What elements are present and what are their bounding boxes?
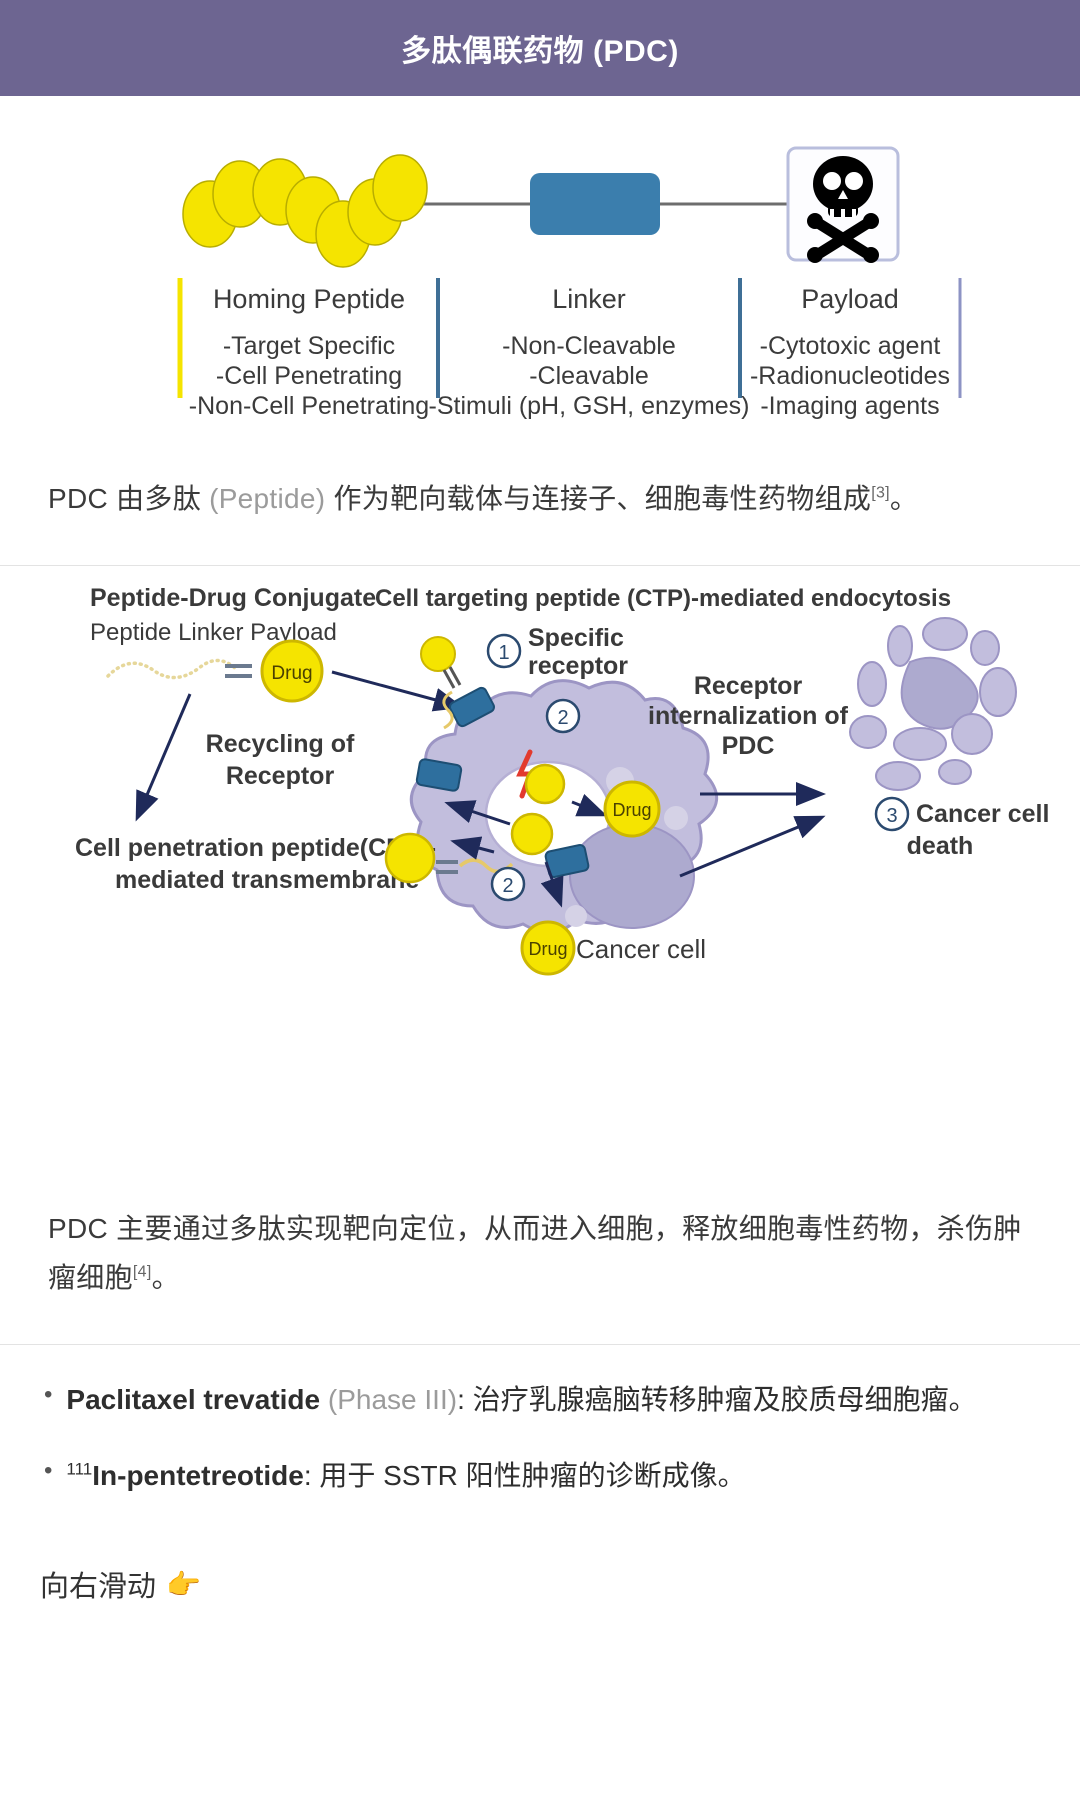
column-line: -Cleavable: [529, 362, 649, 390]
cancer-death-line2: death: [907, 832, 974, 860]
linker-block: [530, 173, 660, 235]
step-marker-3-label: 3: [886, 805, 897, 827]
section-mechanism: Peptide-Drug Conjugate Peptide Linker Pa…: [0, 566, 1080, 1345]
step-marker-2a: 2: [547, 700, 579, 732]
list-item-text: Paclitaxel trevatide (Phase III): 治疗乳腺癌脑…: [66, 1379, 976, 1421]
drug-badge: Drug: [262, 641, 322, 701]
column-line: -Cytotoxic agent: [760, 332, 941, 360]
cpp-line1: Cell penetration peptide(CPP)-: [75, 834, 436, 862]
list-item: • 111In-pentetreotide: 用于 SSTR 阳性肿瘤的诊断成像…: [40, 1455, 1040, 1497]
column-title: Homing Peptide: [213, 284, 405, 314]
ctp-title: Cell targeting peptide (CTP)-mediated en…: [375, 585, 951, 612]
caption-reference: [3]: [871, 485, 890, 502]
column-payload: Payload -Cytotoxic agent -Radionucleotid…: [750, 284, 950, 420]
arrow-to-cell: [332, 672, 458, 706]
bullet-marker: •: [44, 1455, 52, 1487]
recycling-label-line2: Receptor: [226, 762, 335, 790]
structure-svg: Homing Peptide -Target Specific -Cell Pe…: [40, 126, 1040, 426]
caption-end: 。: [152, 1262, 180, 1293]
nucleus: [570, 824, 694, 928]
column-linker: Linker -Non-Cleavable -Cleavable -Stimul…: [429, 284, 750, 420]
caption-suffix: 作为靶向载体与连接子、细胞毒性药物组成: [325, 483, 871, 514]
column-line: -Cell Penetrating: [216, 362, 402, 390]
step-marker-1: 1: [488, 635, 520, 667]
step-marker-2a-label: 2: [557, 707, 568, 729]
drug-example-list: • Paclitaxel trevatide (Phase III): 治疗乳腺…: [0, 1345, 1080, 1541]
page-title: 多肽偶联药物 (PDC): [401, 26, 679, 70]
isotope-superscript: 111: [66, 1460, 92, 1479]
column-line: -Non-Cleavable: [502, 332, 676, 360]
step-marker-2b-label: 2: [502, 875, 513, 897]
homing-peptide-beads: [183, 155, 427, 267]
pdc-mechanism-diagram: Peptide-Drug Conjugate Peptide Linker Pa…: [0, 566, 1080, 1186]
column-homing-peptide: Homing Peptide -Target Specific -Cell Pe…: [189, 284, 429, 420]
drug-badge-bottom: Drug: [522, 922, 574, 974]
caption-muted-term: (Peptide): [209, 483, 325, 514]
step-marker-3: 3: [876, 798, 908, 830]
column-title: Payload: [801, 284, 899, 314]
payload-box: [788, 148, 898, 263]
step-marker-2b: 2: [492, 868, 524, 900]
specific-receptor-line1: Specific: [528, 624, 624, 652]
arrow-to-cpp: [138, 694, 190, 816]
column-line: -Radionucleotides: [750, 362, 950, 390]
section-examples: • Paclitaxel trevatide (Phase III): 治疗乳腺…: [0, 1345, 1080, 1611]
internal-peptide: [512, 814, 552, 854]
mechanism-svg: Peptide-Drug Conjugate Peptide Linker Pa…: [20, 566, 1060, 1166]
recycling-label-line1: Recycling of: [206, 730, 355, 758]
drug-name: In-pentetreotide: [92, 1460, 304, 1491]
internalization-line2: internalization of: [648, 702, 849, 730]
bullet-marker: •: [44, 1379, 52, 1411]
drug-badge-internal: Drug: [605, 782, 659, 836]
cancer-cell-label: Cancer cell: [576, 934, 706, 964]
drug-description: : 治疗乳腺癌脑转移肿瘤及胶质母细胞瘤。: [457, 1384, 977, 1415]
internalization-line3: PDC: [722, 732, 775, 760]
drug-phase: (Phase III): [328, 1384, 457, 1415]
step-marker-1-label: 1: [498, 642, 509, 664]
page-root: 多肽偶联药物 (PDC): [0, 0, 1080, 1812]
column-line: -Imaging agents: [760, 392, 939, 420]
list-item-text: 111In-pentetreotide: 用于 SSTR 阳性肿瘤的诊断成像。: [66, 1455, 745, 1497]
drug-label: Drug: [528, 939, 567, 959]
caption-mechanism: PDC 主要通过多肽实现靶向定位，从而进入细胞，释放细胞毒性药物，杀伤肿瘤细胞[…: [0, 1186, 1080, 1338]
dead-cancer-cell: [850, 618, 1016, 790]
column-line: -Target Specific: [223, 332, 395, 360]
vesicle: [664, 806, 688, 830]
caption-end: 。: [890, 483, 918, 514]
column-line: -Stimuli (pH, GSH, enzymes): [429, 392, 750, 420]
cpp-line2: mediated transmembrane: [115, 866, 419, 894]
swipe-hint-text: 向右滑动: [40, 1563, 156, 1605]
pdc-title: Peptide-Drug Conjugate: [90, 584, 376, 612]
vesicle: [565, 905, 587, 927]
caption-reference: [4]: [133, 1264, 152, 1281]
drug-label: Drug: [612, 800, 651, 820]
drug-label: Drug: [271, 663, 312, 684]
specific-receptor-line2: receptor: [528, 652, 628, 680]
caption-prefix: PDC 由多肽: [48, 483, 209, 514]
drug-description: : 用于 SSTR 阳性肿瘤的诊断成像。: [304, 1460, 746, 1491]
pdc-structure-diagram: Homing Peptide -Target Specific -Cell Pe…: [0, 126, 1080, 456]
column-line: -Non-Cell Penetrating: [189, 392, 429, 420]
peptide-strand-icon: [108, 660, 237, 677]
page-header: 多肽偶联药物 (PDC): [0, 0, 1080, 96]
cancer-death-line1: Cancer cell: [916, 800, 1049, 828]
caption-structure: PDC 由多肽 (Peptide) 作为靶向载体与连接子、细胞毒性药物组成[3]…: [0, 456, 1080, 559]
section-structure: Homing Peptide -Target Specific -Cell Pe…: [0, 126, 1080, 566]
column-title: Linker: [552, 284, 626, 314]
list-item: • Paclitaxel trevatide (Phase III): 治疗乳腺…: [40, 1379, 1040, 1421]
pointing-hand-icon: 👉: [166, 1568, 201, 1601]
swipe-hint: 向右滑动 👉: [0, 1541, 1080, 1605]
linker-icon: [225, 666, 252, 676]
caption-text: PDC 主要通过多肽实现靶向定位，从而进入细胞，释放细胞毒性药物，杀伤肿瘤细胞: [48, 1213, 1022, 1293]
drug-name: Paclitaxel trevatide: [66, 1384, 327, 1415]
internalization-line1: Receptor: [694, 672, 803, 700]
